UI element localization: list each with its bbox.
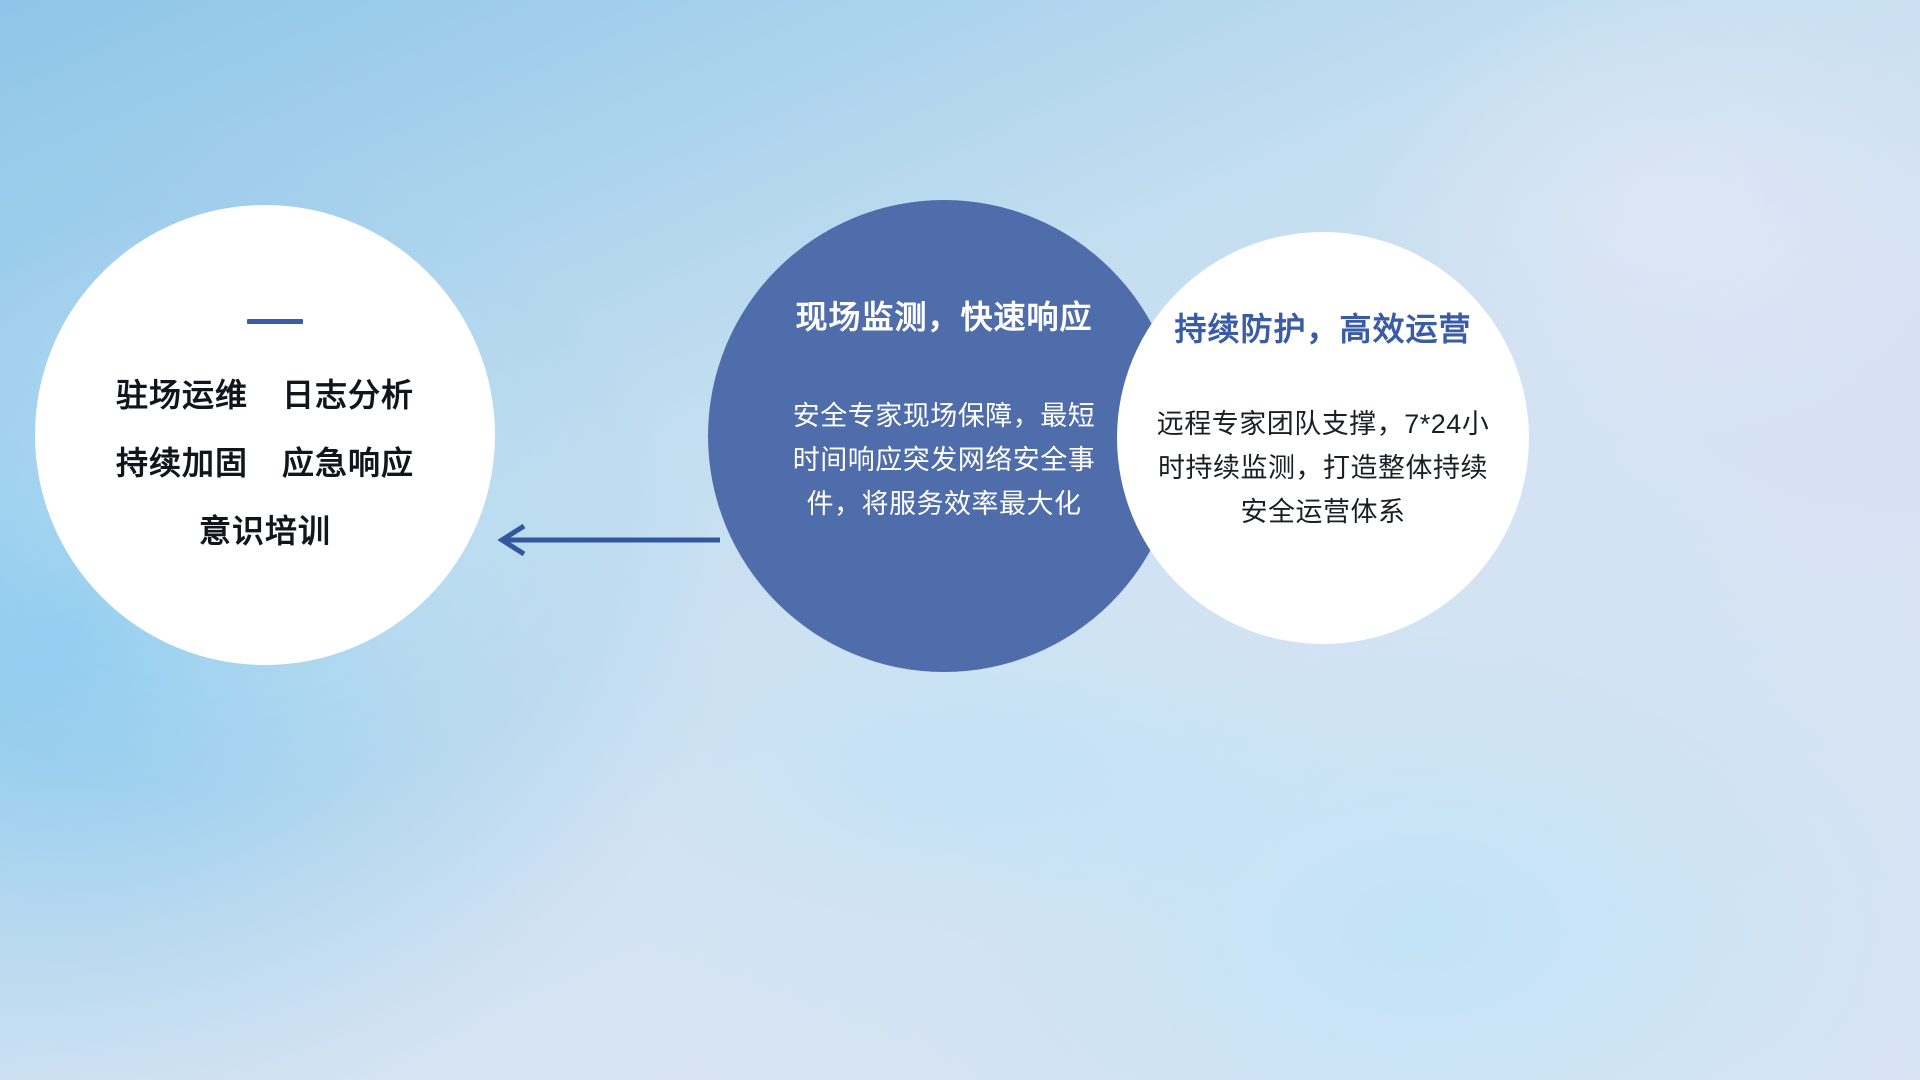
capability-tag-row: 持续加固 应急响应 xyxy=(116,438,414,484)
capability-tag-row: 意识培训 xyxy=(199,506,331,552)
capability-tag: 持续加固 xyxy=(116,438,248,484)
capability-tag: 应急响应 xyxy=(282,438,414,484)
onsite-monitoring-circle: 现场监测，快速响应 安全专家现场保障，最短时间响应突发网络安全事件，将服务效率最… xyxy=(708,200,1180,672)
arrow-left-icon xyxy=(492,520,722,560)
capability-tag: 驻场运维 xyxy=(116,370,248,416)
left-capability-circle: 驻场运维 日志分析 持续加固 应急响应 意识培训 xyxy=(35,205,495,665)
onsite-monitoring-body: 安全专家现场保障，最短时间响应突发网络安全事件，将服务效率最大化 xyxy=(789,394,1099,526)
capability-tag-list: 驻场运维 日志分析 持续加固 应急响应 意识培训 xyxy=(116,370,414,552)
capability-tag-row: 驻场运维 日志分析 xyxy=(116,370,414,416)
continuous-protection-body: 远程专家团队支撑，7*24小时持续监测，打造整体持续安全运营体系 xyxy=(1147,402,1499,534)
divider-dash-icon xyxy=(247,319,303,324)
onsite-monitoring-title: 现场监测，快速响应 xyxy=(795,292,1092,338)
continuous-protection-circle: 持续防护，高效运营 远程专家团队支撑，7*24小时持续监测，打造整体持续安全运营… xyxy=(1117,232,1529,644)
capability-tag: 意识培训 xyxy=(199,506,331,552)
capability-tag: 日志分析 xyxy=(282,370,414,416)
continuous-protection-title: 持续防护，高效运营 xyxy=(1174,304,1471,350)
slide-canvas: 驻场运维 日志分析 持续加固 应急响应 意识培训 现场监测，快速响应 安全专家现… xyxy=(0,0,1920,1080)
